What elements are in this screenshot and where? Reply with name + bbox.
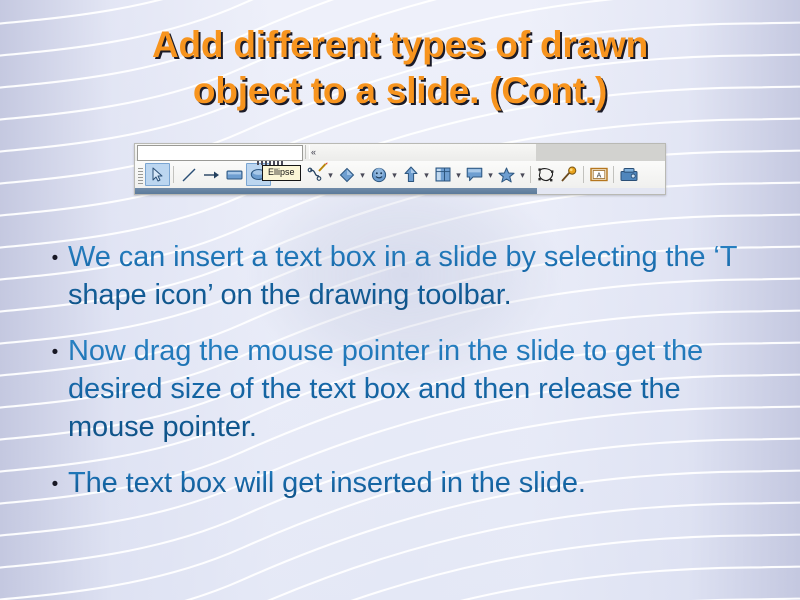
bullet-text: Now drag the mouse pointer in the slide … [68, 332, 766, 446]
dropdown-dot-icon[interactable]: ▾ [422, 170, 431, 180]
rotate-pin-icon [560, 166, 577, 183]
drawing-toolbar-row: ▾ ▾ ▾ [135, 161, 665, 188]
toolbar-separator [173, 166, 174, 183]
diamond-icon [339, 167, 355, 183]
picture-frame-icon: A [590, 167, 608, 182]
line-arrow-tool-button[interactable] [200, 164, 223, 185]
list-item: • The text box will get inserted in the … [42, 464, 766, 505]
dropdown-dot-icon[interactable]: ▾ [454, 170, 463, 180]
star-icon [498, 167, 515, 183]
drawing-toolbar-screenshot: « [134, 143, 666, 195]
pencil-icon [317, 161, 329, 173]
bullet-marker: • [42, 332, 68, 373]
cursor-arrow-icon [151, 167, 164, 182]
list-item: • Now drag the mouse pointer in the slid… [42, 332, 766, 446]
toolbar-separator [530, 166, 531, 183]
toolbar-grip-handle[interactable] [136, 165, 145, 185]
rotate-tool-button[interactable] [557, 164, 580, 185]
line-icon [181, 167, 197, 183]
flowchart-icon [435, 167, 451, 182]
bullet-text: The text box will get inserted in the sl… [68, 464, 766, 502]
bullet-marker: • [42, 238, 68, 279]
basic-shapes-tool-button[interactable] [335, 164, 358, 185]
slide-title: Add different types of drawn object to a… [60, 22, 740, 114]
list-item: • We can insert a text box in a slide by… [42, 238, 766, 314]
bullet-marker: • [42, 464, 68, 505]
stars-tool-button[interactable] [495, 164, 518, 185]
smiley-face-icon [371, 167, 387, 183]
dropdown-dot-icon[interactable]: ▾ [390, 170, 399, 180]
chevron-left-icon[interactable]: « [311, 147, 316, 157]
bullet-text: We can insert a text box in a slide by s… [68, 238, 766, 314]
block-arrows-tool-button[interactable] [399, 164, 422, 185]
symbol-shapes-tool-button[interactable] [367, 164, 390, 185]
callouts-tool-button[interactable] [463, 164, 486, 185]
presentation-slide: Add different types of drawn object to a… [0, 0, 800, 600]
line-tool-button[interactable] [177, 164, 200, 185]
block-arrow-up-icon [404, 166, 418, 183]
toolbar-separator [583, 166, 584, 183]
polygon-3d-icon [537, 167, 555, 183]
dropdown-dot-icon[interactable]: ▾ [358, 170, 367, 180]
toolbar-separator [613, 166, 614, 183]
gallery-box-icon [620, 167, 638, 182]
flowchart-tool-button[interactable] [431, 164, 454, 185]
ellipse-tooltip: Ellipse [262, 165, 301, 181]
arrow-right-icon [203, 168, 220, 182]
dropdown-dot-icon[interactable]: ▾ [518, 170, 527, 180]
toolbar-top-row: « [135, 144, 665, 162]
gallery-tool-button[interactable] [617, 164, 640, 185]
insert-image-tool-button[interactable]: A [587, 164, 610, 185]
slide-body-bullets: • We can insert a text box in a slide by… [42, 238, 766, 523]
svg-text:A: A [596, 172, 601, 179]
rectangle-tool-button[interactable] [223, 164, 246, 185]
toolbar-bottom-accent-bar [135, 188, 665, 194]
toolbar-empty-area [536, 144, 665, 161]
toolbar-drag-handle[interactable] [305, 145, 310, 159]
callout-bubble-icon [466, 167, 483, 182]
toolbar-combo-box[interactable] [137, 145, 303, 161]
dropdown-dot-icon[interactable]: ▾ [486, 170, 495, 180]
rectangle-icon [226, 169, 243, 181]
three-d-objects-tool-button[interactable] [534, 164, 557, 185]
select-tool-button[interactable] [145, 163, 170, 186]
